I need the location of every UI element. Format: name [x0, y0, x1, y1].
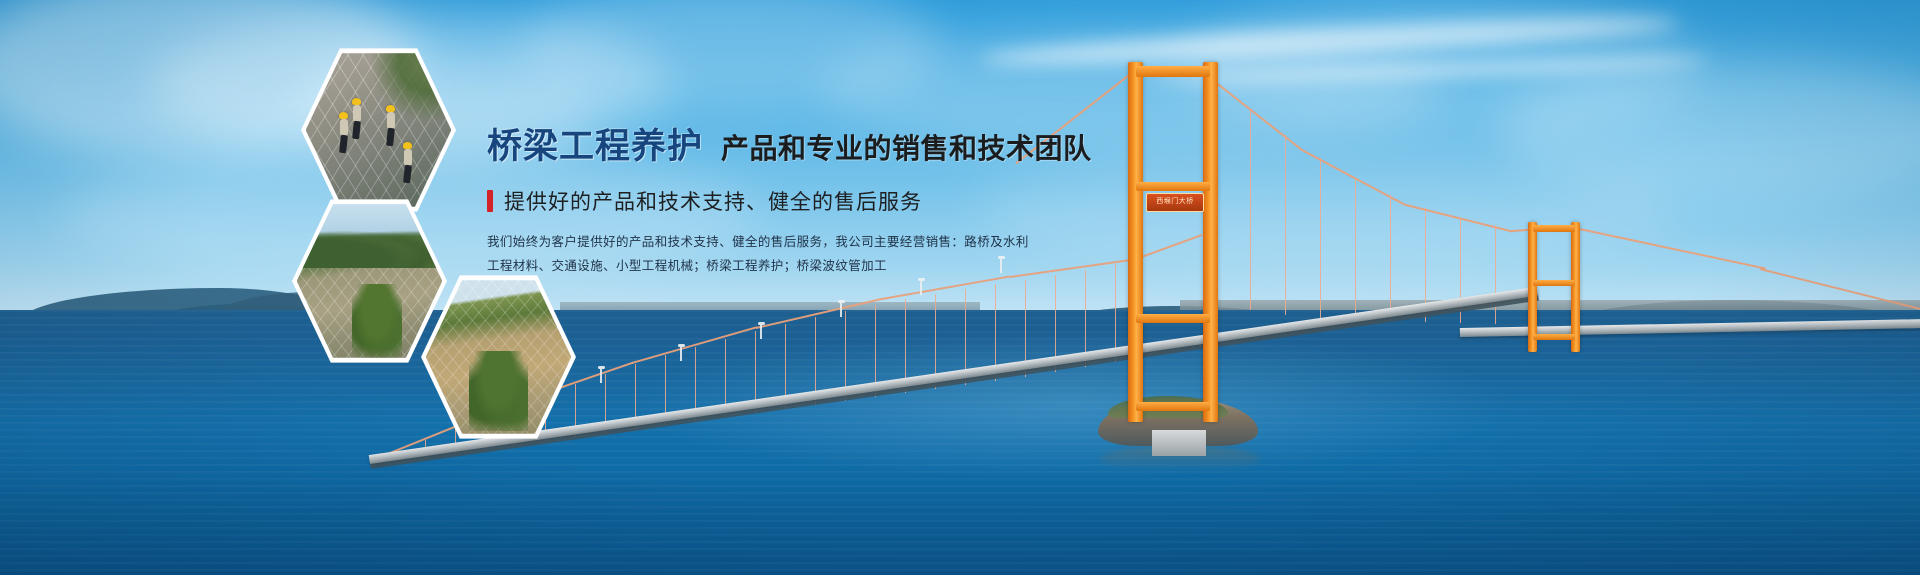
- hex-image-clip: [306, 50, 452, 210]
- photo-foreground-tree: [352, 284, 402, 358]
- tower-crossbeam-mid: [1533, 280, 1575, 286]
- worker-body: [340, 119, 348, 136]
- hanger-cable: [1285, 135, 1286, 315]
- tower-crossbeam-top: [1533, 225, 1575, 232]
- tower-foundation: [1152, 430, 1206, 456]
- tower-leg-left: [1128, 62, 1143, 422]
- main-cable-segment: [756, 298, 883, 330]
- tower-crossbeam-base: [1533, 334, 1575, 340]
- hanger-cable: [1250, 110, 1251, 310]
- headline-primary: 桥梁工程养护: [487, 118, 703, 169]
- tower-crossbeam-top: [1136, 66, 1210, 77]
- photo-vegetation: [371, 50, 451, 121]
- photo-slope-netting-dry: [426, 277, 572, 437]
- tower-crossbeam-lower: [1136, 314, 1210, 323]
- body-line: 工程材料、交通设施、小型工程机械；桥梁工程养护；桥梁波纹管加工: [487, 256, 1047, 276]
- safety-helmet-icon: [352, 98, 361, 105]
- lamp-post: [920, 281, 922, 295]
- worker-body: [404, 149, 412, 166]
- hanger-cable: [1355, 178, 1356, 320]
- body-line: 我们始终为客户提供好的产品和技术支持、健全的售后服务，我公司主要经营销售：路桥及…: [487, 232, 1047, 252]
- safety-helmet-icon: [403, 142, 412, 149]
- tower-leg-right: [1571, 222, 1580, 352]
- hex-photo-rockfall-netting[interactable]: [301, 45, 456, 215]
- photo-rockfall-netting-workers: [306, 50, 452, 210]
- bridge-tower-far: [1528, 222, 1580, 352]
- worker-body: [353, 105, 361, 122]
- worker-legs: [386, 128, 395, 147]
- tower-leg-right: [1203, 62, 1218, 422]
- red-accent-bar: [487, 190, 493, 212]
- hanger-cable: [1495, 225, 1496, 324]
- tower-crossbeam-base: [1136, 402, 1210, 411]
- hero-banner: 西堠门大桥: [0, 0, 1920, 575]
- hex-frame: [421, 272, 576, 442]
- right-cable-segment: [1205, 74, 1301, 150]
- tower-leg-left: [1528, 222, 1537, 352]
- lamp-post: [600, 369, 602, 383]
- hex-photo-slope-dry[interactable]: [421, 272, 576, 442]
- hanger-cable: [1390, 195, 1391, 321]
- subheadline-text: 提供好的产品和技术支持、健全的售后服务: [504, 186, 922, 216]
- lamp-post: [840, 303, 842, 317]
- hex-frame: [301, 45, 456, 215]
- worker-legs: [403, 165, 412, 184]
- banner-headline: 桥梁工程养护 产品和专业的销售和技术团队: [487, 118, 1047, 169]
- bridge-tower-main: [1128, 62, 1218, 422]
- lamp-post: [680, 347, 682, 361]
- tower-name-plaque: 西堠门大桥: [1146, 193, 1204, 212]
- right-cable-segment: [1760, 268, 1920, 311]
- photo-treeline: [297, 227, 443, 269]
- hanger-cable: [1320, 158, 1321, 318]
- worker-legs: [339, 135, 348, 154]
- photo-foreground-tree: [469, 351, 527, 431]
- banner-copy-block: 桥梁工程养护 产品和专业的销售和技术团队 提供好的产品和技术支持、健全的售后服务…: [487, 118, 1047, 281]
- right-cable-segment: [1570, 226, 1766, 270]
- worker-body: [387, 112, 395, 129]
- safety-helmet-icon: [339, 112, 348, 119]
- banner-body-copy: 我们始终为客户提供好的产品和技术支持、健全的售后服务，我公司主要经营销售：路桥及…: [487, 232, 1047, 277]
- hex-image-clip: [426, 277, 572, 437]
- worker-legs: [352, 121, 361, 140]
- tower-crossbeam-upper: [1136, 182, 1210, 191]
- headline-secondary: 产品和专业的销售和技术团队: [721, 127, 1092, 167]
- suspension-bridge: 西堠门大桥: [0, 0, 1920, 575]
- safety-helmet-icon: [386, 105, 395, 112]
- lamp-post: [760, 325, 762, 339]
- banner-subheadline: 提供好的产品和技术支持、健全的售后服务: [487, 186, 1047, 216]
